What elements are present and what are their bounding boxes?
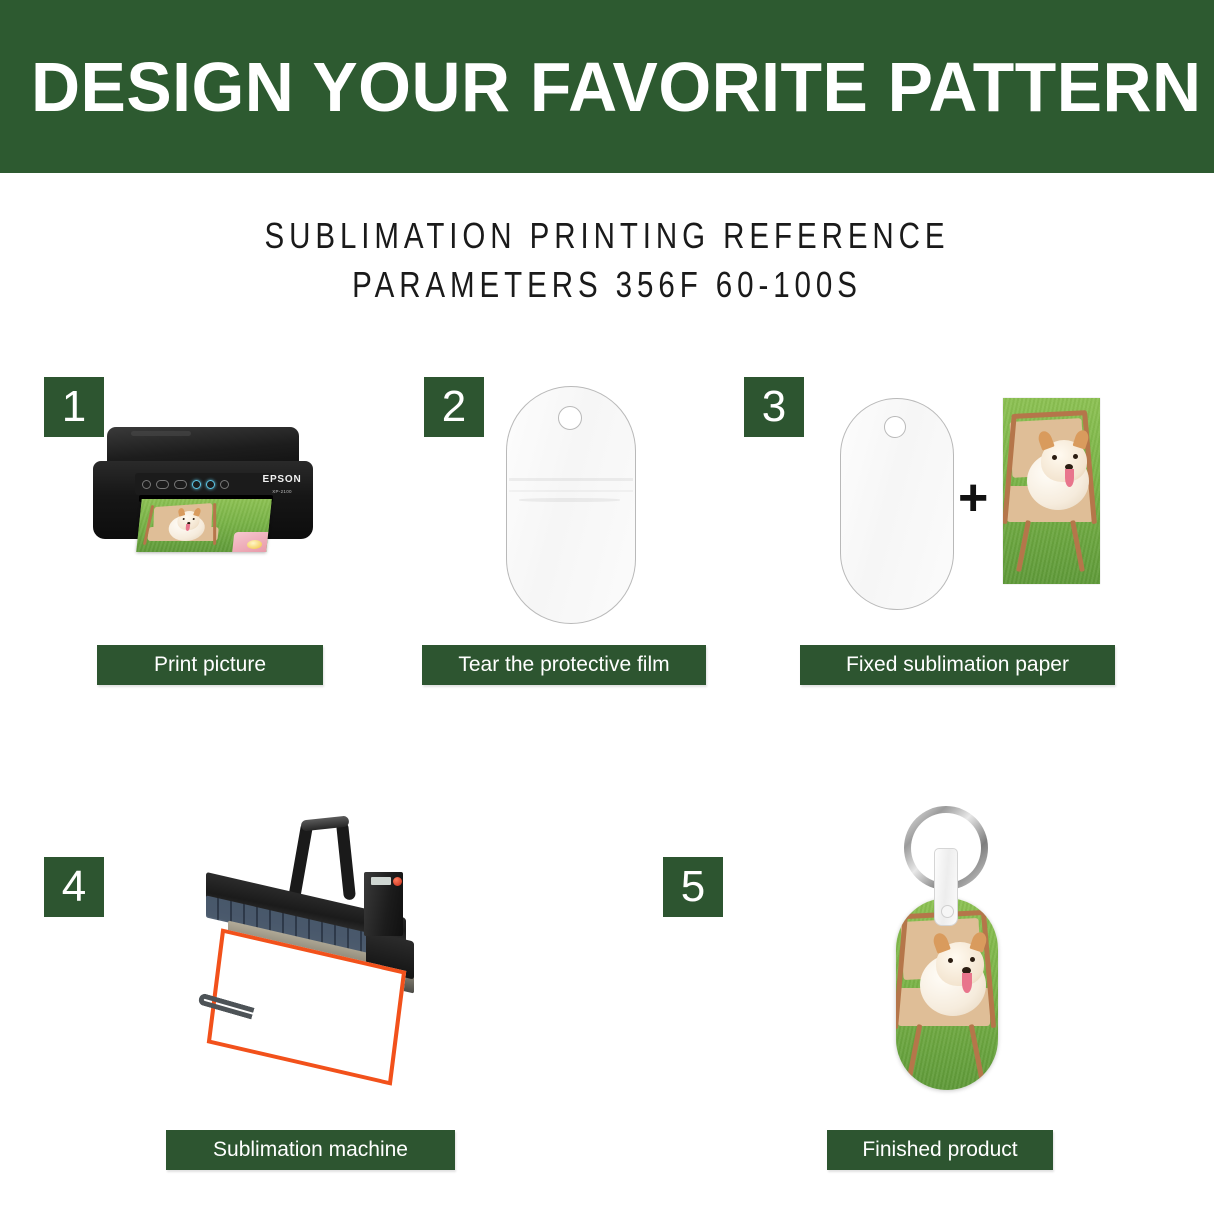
subtitle-line-2: PARAMETERS 356F 60-100S xyxy=(109,261,1104,310)
subtitle-line-1: SUBLIMATION PRINTING REFERENCE xyxy=(109,212,1104,261)
printer-brand-label: EPSON XP-2100 xyxy=(255,473,309,495)
step-label-2: Tear the protective film xyxy=(422,645,706,685)
keychain-hole xyxy=(558,406,582,430)
page-title: DESIGN YOUR FAVORITE PATTERN xyxy=(0,52,1202,122)
step-number-4: 4 xyxy=(44,857,104,917)
keychain-hole-3 xyxy=(884,416,906,438)
printer-control-panel xyxy=(135,473,275,495)
scan-button-icon xyxy=(174,480,187,489)
color-button-icon xyxy=(192,480,201,489)
dog-tongue-5 xyxy=(962,973,972,993)
blank-keychain-step3 xyxy=(840,398,954,610)
protective-film-edge-2 xyxy=(509,490,634,492)
wifi-button-icon xyxy=(206,480,215,489)
corgi-scene-paper xyxy=(1003,398,1100,584)
blank-keychain-step2 xyxy=(506,386,636,624)
step-number-3: 3 xyxy=(744,377,804,437)
printer-brand-text: EPSON xyxy=(262,474,301,485)
dog-eye-right-5 xyxy=(970,957,975,962)
step-label-3: Fixed sublimation paper xyxy=(800,645,1115,685)
dog-eye-left-5 xyxy=(948,958,953,963)
dog-eye-right-3 xyxy=(1073,454,1078,459)
power-button-icon xyxy=(142,480,151,489)
press-display xyxy=(371,877,391,885)
copy-button-icon xyxy=(156,480,169,489)
plus-sign: + xyxy=(958,472,988,524)
chair-frame-right xyxy=(213,503,216,545)
protective-film-edge-1 xyxy=(509,478,634,481)
stop-button-icon xyxy=(220,480,229,489)
printed-photo xyxy=(136,499,272,552)
corgi-scene-final xyxy=(896,898,998,1090)
sublimation-paper-photo xyxy=(1003,398,1100,584)
printer-illustration: EPSON XP-2100 xyxy=(93,427,313,552)
header-banner: DESIGN YOUR FAVORITE PATTERN xyxy=(0,0,1214,173)
dog-tongue-3 xyxy=(1065,469,1074,487)
keychain-tag xyxy=(896,898,998,1090)
keychain-strap xyxy=(934,848,958,926)
dog-eye-left-3 xyxy=(1052,455,1057,460)
step-number-5: 5 xyxy=(663,857,723,917)
step-label-4: Sublimation machine xyxy=(166,1130,455,1170)
heat-press-illustration xyxy=(190,800,455,1065)
press-handle-arm-right xyxy=(336,822,356,901)
step-label-5: Finished product xyxy=(827,1130,1053,1170)
press-knob-icon xyxy=(393,877,402,886)
finished-keychain-illustration xyxy=(890,800,1070,1100)
step-number-2: 2 xyxy=(424,377,484,437)
step-label-1: Print picture xyxy=(97,645,323,685)
subtitle: SUBLIMATION PRINTING REFERENCE PARAMETER… xyxy=(109,212,1104,310)
protective-film-peel xyxy=(519,498,620,502)
corgi-scene-printed xyxy=(136,499,272,552)
